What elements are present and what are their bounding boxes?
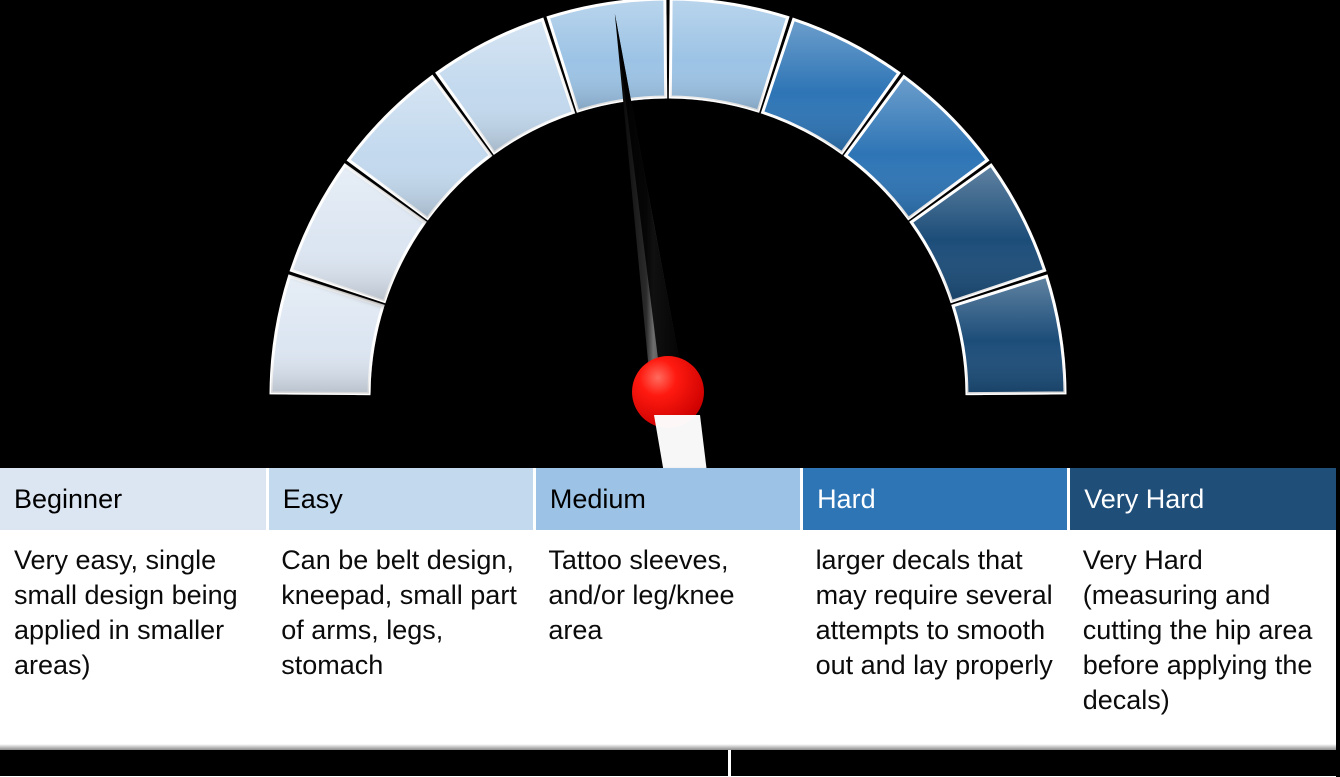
difficulty-table: Beginner Easy Medium Hard Very Hard Very… [0,468,1336,777]
column-header-hard[interactable]: Hard [802,468,1069,532]
slide-canvas: Beginner Easy Medium Hard Very Hard Very… [0,0,1340,776]
table-header-row: Beginner Easy Medium Hard Very Hard [0,468,1336,532]
cell-easy-description: Can be belt design, kneepad, small part … [267,532,534,777]
cell-very-hard-description: Very Hard (measuring and cutting the hip… [1069,532,1336,777]
column-header-beginner[interactable]: Beginner [0,468,267,532]
column-header-easy[interactable]: Easy [267,468,534,532]
needle-hub[interactable] [632,356,704,428]
table-row: Very easy, single small design being app… [0,532,1336,777]
column-header-medium[interactable]: Medium [534,468,801,532]
cell-medium-description: Tattoo sleeves, and/or leg/knee area [534,532,801,777]
difficulty-gauge [0,0,1340,470]
card-bottom-edge [0,744,1336,750]
cell-beginner-description: Very easy, single small design being app… [0,532,267,777]
gauge-svg [0,0,1340,470]
difficulty-legend-table: Beginner Easy Medium Hard Very Hard Very… [0,468,1336,760]
column-header-very-hard[interactable]: Very Hard [1069,468,1336,532]
cell-hard-description: larger decals that may require several a… [802,532,1069,777]
